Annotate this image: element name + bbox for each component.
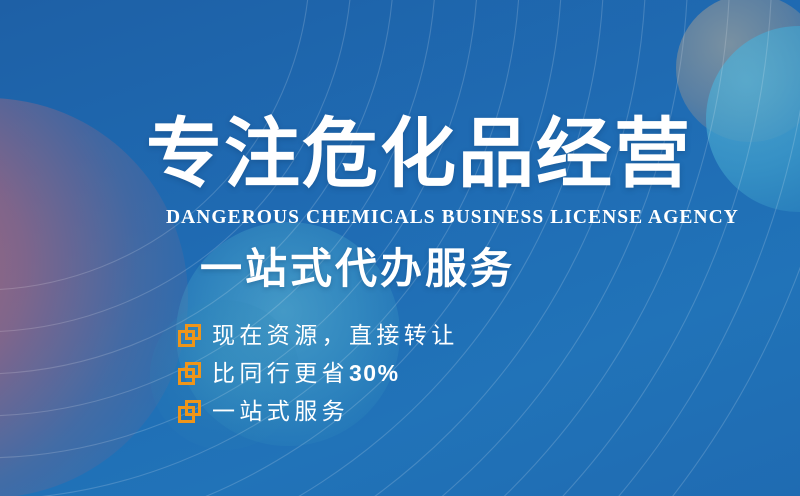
overlapping-squares-icon <box>178 324 201 347</box>
banner-subhead-english: DANGEROUS CHEMICALS BUSINESS LICENSE AGE… <box>166 206 739 230</box>
list-item-label: 现在资源，直接转让 <box>212 320 459 350</box>
benefits-list: 现在资源，直接转让 比同行更省30% 一站式服务 <box>178 316 459 430</box>
overlapping-squares-icon <box>178 400 201 423</box>
list-item-label: 一站式服务 <box>212 396 349 426</box>
overlapping-squares-icon <box>178 362 201 385</box>
list-item: 一站式服务 <box>178 392 459 430</box>
list-item-label: 比同行更省30% <box>212 358 400 388</box>
discount-value: 30% <box>349 360 400 386</box>
list-item: 比同行更省30% <box>178 354 459 392</box>
banner-subhead-chinese: 一站式代办服务 <box>200 243 515 295</box>
list-item: 现在资源，直接转让 <box>178 316 459 354</box>
promotional-banner: 专注危化品经营 DANGEROUS CHEMICALS BUSINESS LIC… <box>0 0 800 496</box>
banner-content: 专注危化品经营 DANGEROUS CHEMICALS BUSINESS LIC… <box>0 0 800 496</box>
banner-headline: 专注危化品经营 <box>146 112 692 198</box>
list-item-label-text: 比同行更省 <box>212 360 349 386</box>
